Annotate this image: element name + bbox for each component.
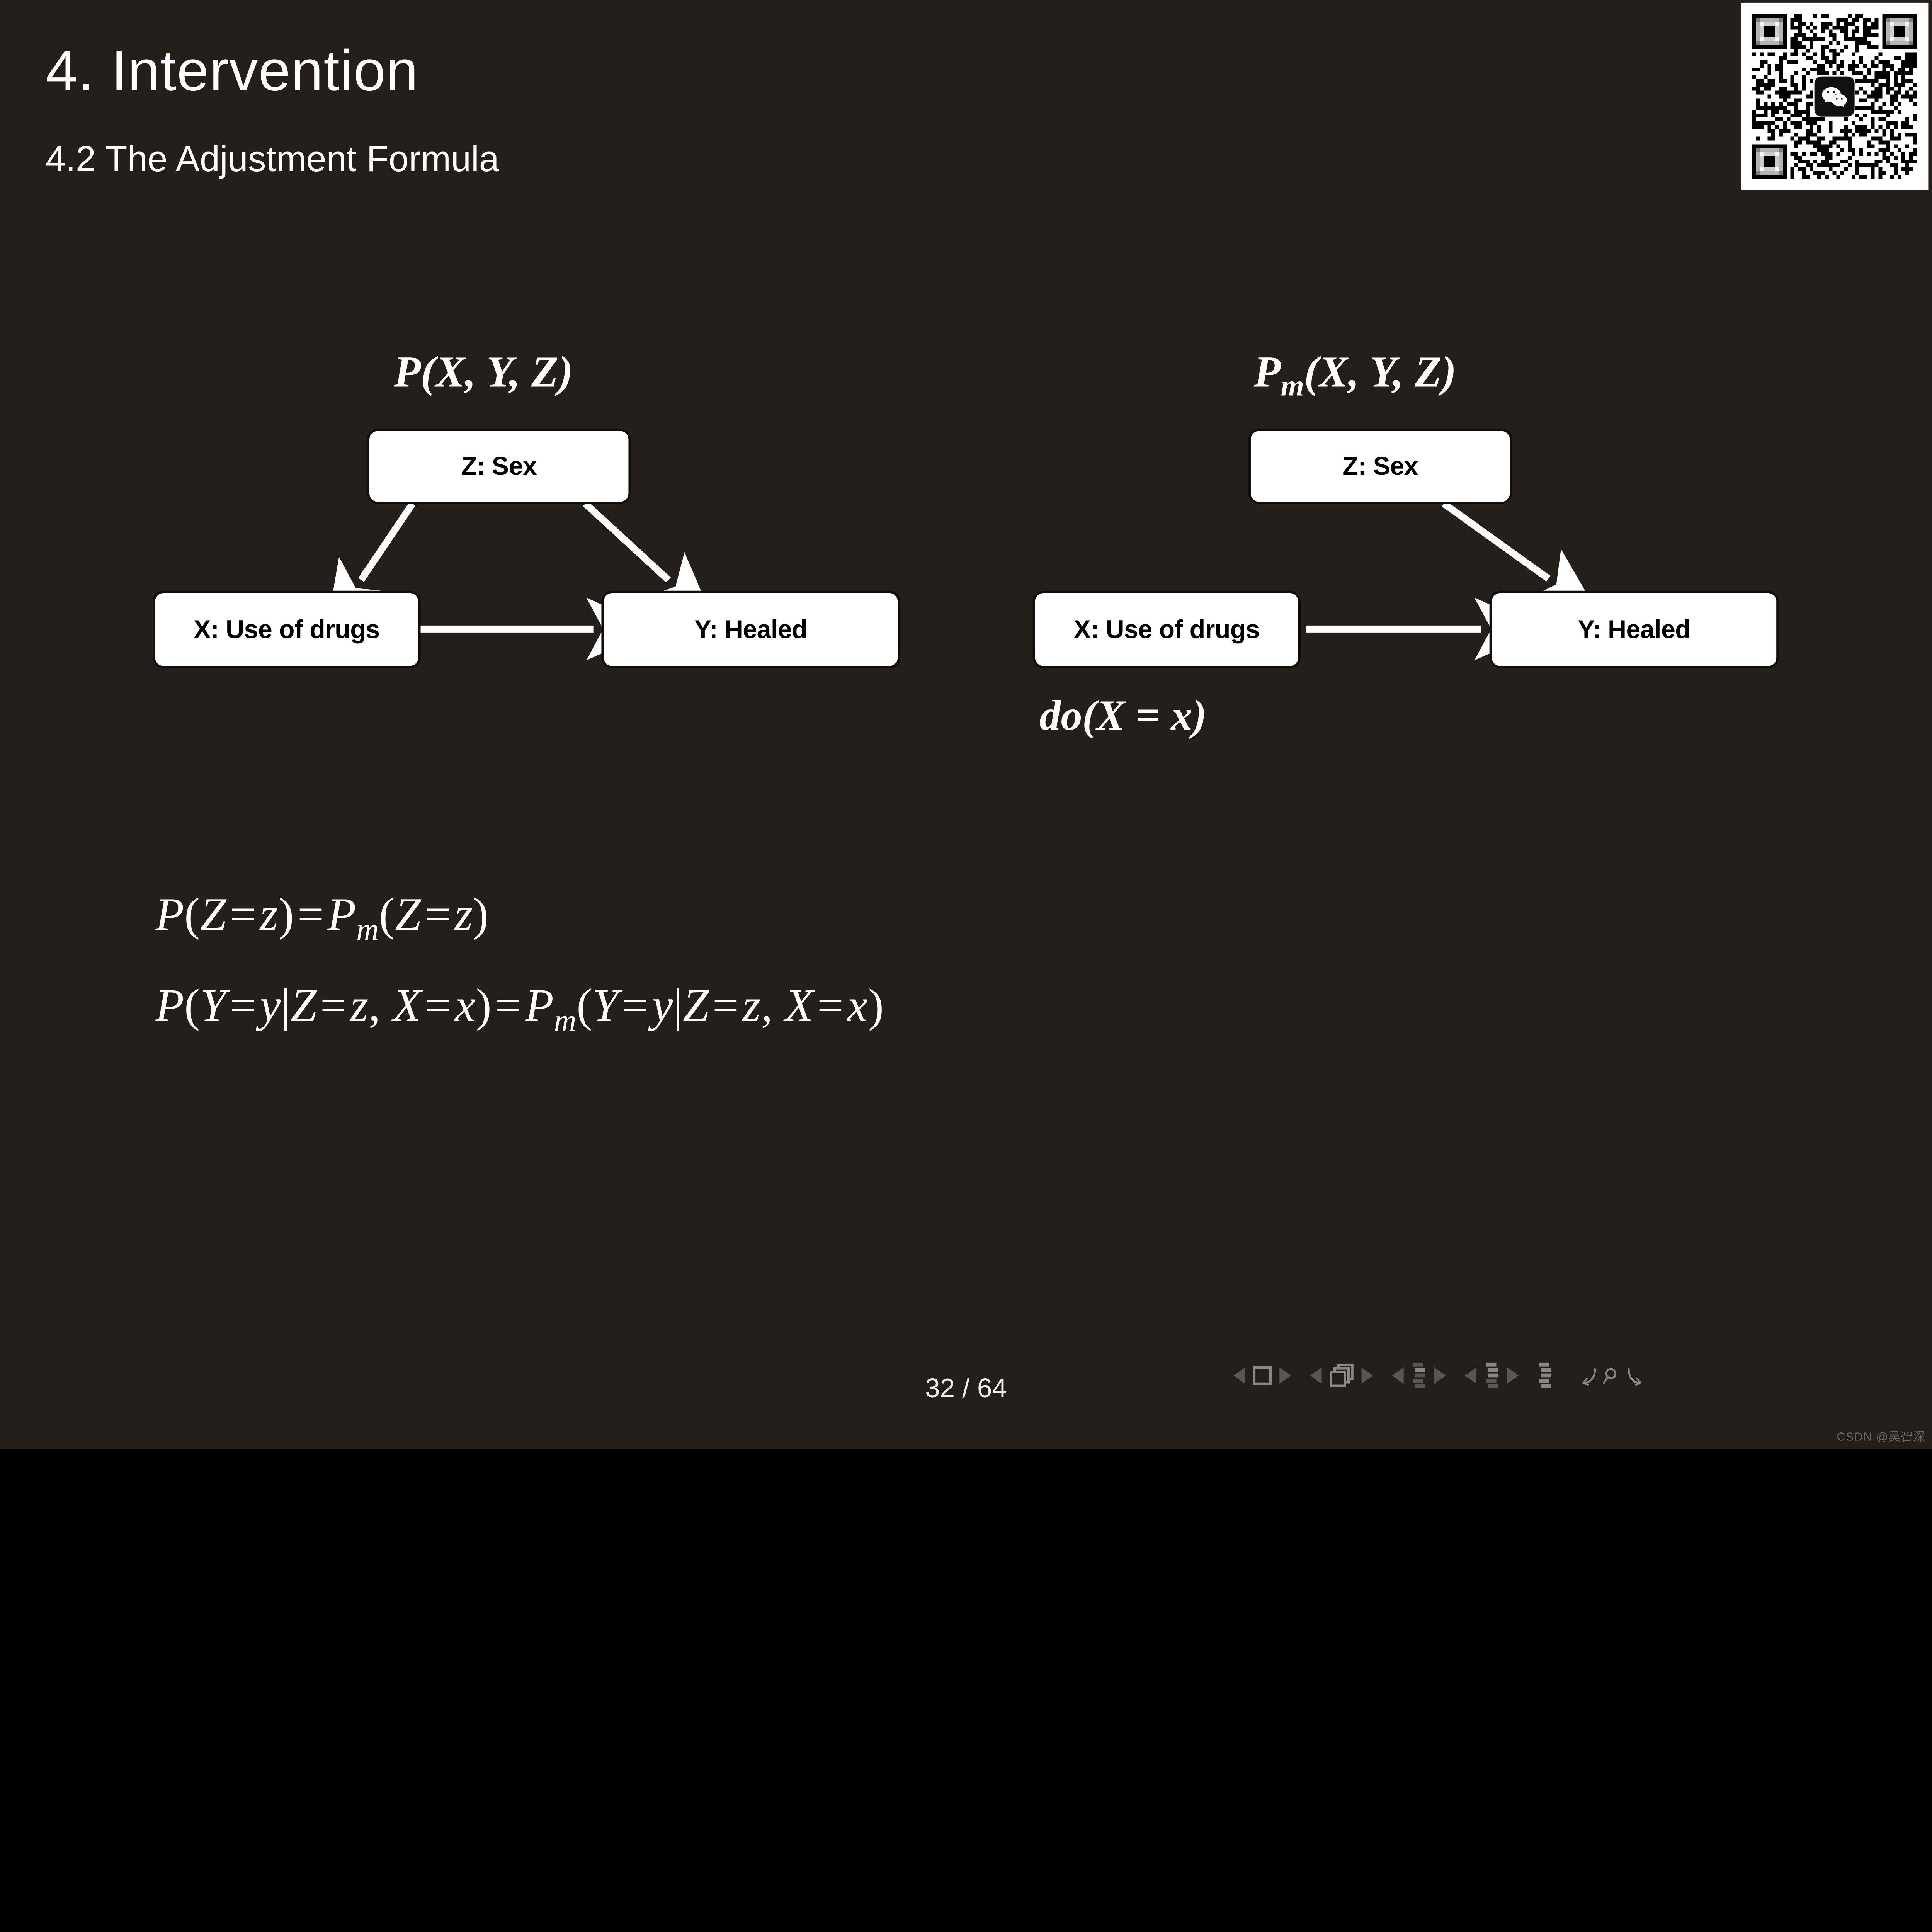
document-icon[interactable] xyxy=(1537,1362,1553,1389)
equation-token: ( xyxy=(184,979,200,1031)
frame-icon[interactable] xyxy=(1329,1363,1355,1389)
equation-token: = xyxy=(421,888,454,940)
equation-token: Y xyxy=(200,979,226,1031)
equation-token: z xyxy=(454,888,473,940)
node-label: X: Use of drugs xyxy=(194,615,379,644)
prev-frame-icon[interactable] xyxy=(1309,1366,1323,1385)
node-z-sex-observational[interactable]: Z: Sex xyxy=(367,429,631,504)
back-icon[interactable] xyxy=(1578,1365,1599,1386)
caption-base: P xyxy=(394,347,421,396)
equation-token: = xyxy=(619,979,652,1031)
equation-token: X xyxy=(393,979,422,1031)
wechat-qr-code[interactable] xyxy=(1741,3,1928,190)
caption-sub: m xyxy=(1281,369,1304,402)
wechat-logo-icon xyxy=(1815,77,1855,117)
edge-z-to-y-m xyxy=(1444,503,1548,578)
equation-token: = xyxy=(492,979,525,1031)
csdn-watermark: CSDN @吴智深 xyxy=(1837,1427,1925,1444)
subsection-icon[interactable] xyxy=(1411,1362,1427,1389)
node-label: Z: Sex xyxy=(1342,452,1418,481)
equation-token: P xyxy=(155,979,184,1031)
beamer-navigation-bar xyxy=(1232,1359,1646,1391)
prev-slide-icon[interactable] xyxy=(1232,1366,1246,1385)
beamer-slide: 4. Intervention 4.2 The Adjustment Formu… xyxy=(0,0,1932,1449)
equation-token: m xyxy=(554,1003,577,1037)
equation-token: x xyxy=(847,979,868,1031)
equation-token: P xyxy=(327,888,356,940)
node-y-healed-observational[interactable]: Y: Healed xyxy=(601,591,900,668)
equation-token: = xyxy=(814,979,847,1031)
caption-args: (X, Y, Z) xyxy=(1304,347,1456,396)
equation-token: | xyxy=(281,979,291,1031)
page-title: 4. Intervention xyxy=(46,41,418,99)
node-y-healed-interventional[interactable]: Y: Healed xyxy=(1490,591,1779,668)
do-operator-annotation: do(X = x) xyxy=(1039,694,1207,737)
next-slide-icon[interactable] xyxy=(1278,1366,1292,1385)
nav-group-subsection xyxy=(1391,1362,1447,1389)
equation-token: ( xyxy=(184,888,200,940)
do-operator-text: do(X = x) xyxy=(1039,691,1207,739)
nav-group-document xyxy=(1537,1362,1553,1389)
node-label: X: Use of drugs xyxy=(1074,615,1260,644)
equation-token: ( xyxy=(379,888,395,940)
equation-token: y xyxy=(260,979,281,1031)
equation-token: = xyxy=(226,979,260,1031)
caption-base: P xyxy=(1254,347,1281,396)
page-subtitle: 4.2 The Adjustment Formula xyxy=(46,141,499,177)
equation-token: z xyxy=(350,979,369,1031)
node-x-use-of-drugs-interventional[interactable]: X: Use of drugs xyxy=(1033,591,1301,668)
search-icon[interactable] xyxy=(1602,1365,1622,1386)
equation-token: = xyxy=(709,979,742,1031)
node-label: Z: Sex xyxy=(461,452,537,481)
equation-prior-invariance: P(Z=z)=Pm(Z=z) xyxy=(155,891,489,945)
equation-token: Y xyxy=(592,979,619,1031)
equation-token: = xyxy=(317,979,350,1031)
section-icon[interactable] xyxy=(1483,1362,1500,1389)
equation-token: Z xyxy=(200,888,226,940)
nav-group-history xyxy=(1578,1365,1646,1386)
equation-token: x xyxy=(455,979,476,1031)
prev-section-icon[interactable] xyxy=(1464,1366,1478,1385)
slide-icon[interactable] xyxy=(1252,1366,1272,1386)
forward-icon[interactable] xyxy=(1624,1365,1646,1386)
equation-token: ) xyxy=(868,979,884,1031)
equation-token: Z xyxy=(683,979,709,1031)
equation-token: y xyxy=(652,979,673,1031)
node-label: Y: Healed xyxy=(1578,615,1690,644)
equation-token: = xyxy=(226,888,260,940)
equation-token: m xyxy=(356,912,379,947)
nav-group-slide xyxy=(1232,1366,1292,1386)
diagram-caption-observational: P(X, Y, Z) xyxy=(394,350,573,401)
next-frame-icon[interactable] xyxy=(1361,1366,1374,1385)
edge-z-to-x xyxy=(361,503,413,580)
equation-token: Z xyxy=(395,888,421,940)
equation-token: ) xyxy=(278,888,294,940)
equation-token: ) xyxy=(473,888,489,940)
node-x-use-of-drugs-observational[interactable]: X: Use of drugs xyxy=(153,591,420,668)
equation-conditional-invariance: P(Y=y|Z=z, X=x)=Pm(Y=y|Z=z, X=x) xyxy=(155,982,884,1036)
equation-token: z xyxy=(260,888,278,940)
equation-token: ) xyxy=(476,979,492,1031)
edge-z-to-y xyxy=(585,503,668,580)
diagram-edges xyxy=(0,0,1932,1449)
nav-group-section xyxy=(1464,1362,1520,1389)
nav-group-frame xyxy=(1309,1363,1374,1389)
equation-token: P xyxy=(155,888,184,940)
equation-token: z xyxy=(742,979,761,1031)
next-section-icon[interactable] xyxy=(1506,1366,1520,1385)
equation-token: , xyxy=(369,979,393,1031)
diagram-caption-interventional: Pm(X, Y, Z) xyxy=(1254,350,1456,401)
next-subsection-icon[interactable] xyxy=(1433,1366,1447,1385)
equation-token: ( xyxy=(577,979,592,1031)
equation-token: = xyxy=(422,979,455,1031)
equation-token: = xyxy=(294,888,327,940)
node-label: Y: Healed xyxy=(694,615,807,644)
equation-token: P xyxy=(525,979,554,1031)
equation-token: Z xyxy=(291,979,317,1031)
node-z-sex-interventional[interactable]: Z: Sex xyxy=(1248,429,1512,504)
caption-args: (X, Y, Z) xyxy=(421,347,573,396)
equation-token: | xyxy=(673,979,683,1031)
equation-token: , xyxy=(761,979,785,1031)
prev-subsection-icon[interactable] xyxy=(1391,1366,1405,1385)
equation-token: X xyxy=(785,979,814,1031)
